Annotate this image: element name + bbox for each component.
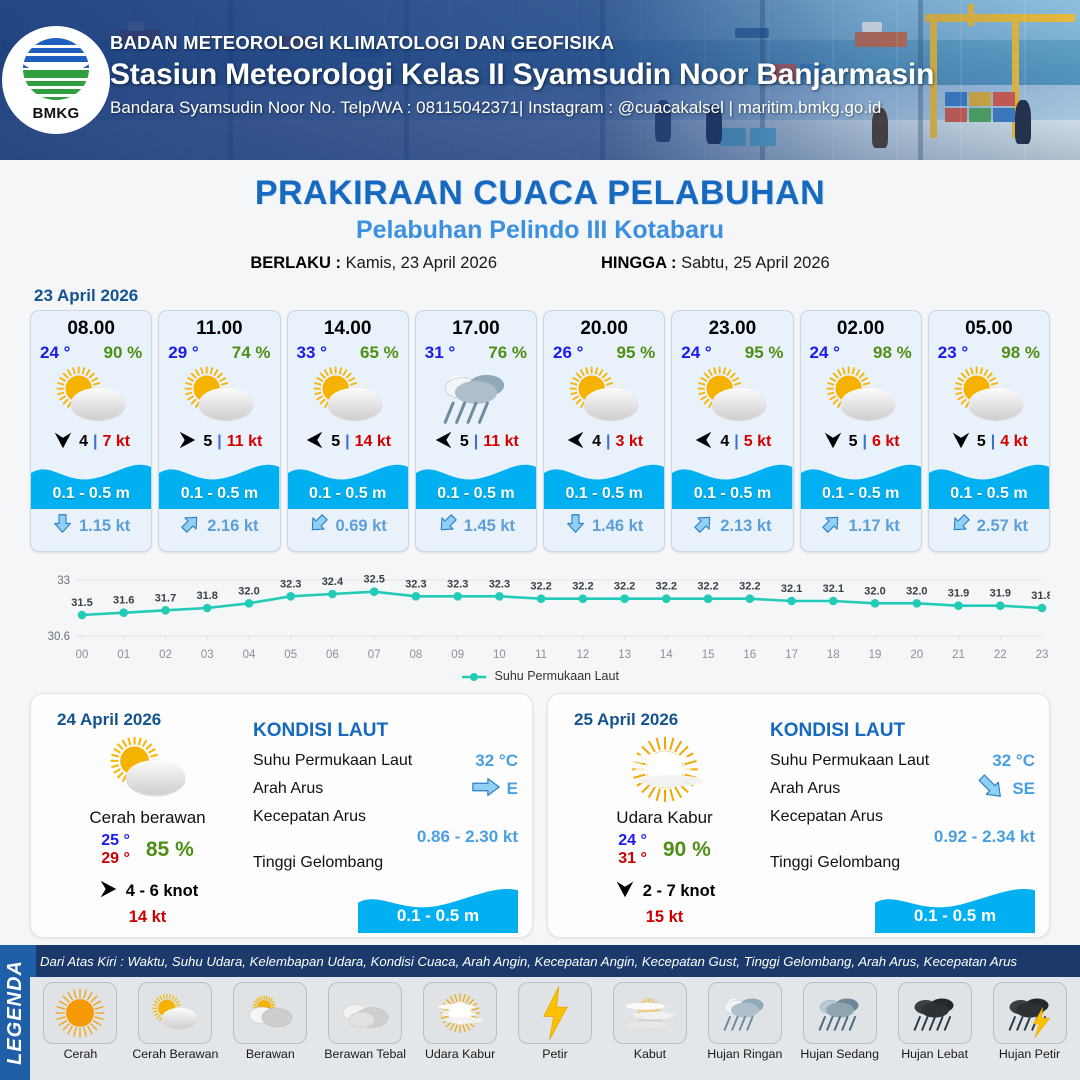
card-time: 23.00 bbox=[672, 311, 792, 340]
current-direction-label: Arah Arus bbox=[770, 780, 840, 798]
svg-text:32.2: 32.2 bbox=[530, 581, 551, 593]
svg-text:31.5: 31.5 bbox=[71, 597, 92, 609]
arrow-right-icon bbox=[471, 776, 501, 803]
svg-text:32.2: 32.2 bbox=[739, 581, 760, 593]
svg-text:32.3: 32.3 bbox=[489, 578, 510, 590]
wave-height-label: Tinggi Gelombang bbox=[253, 854, 383, 872]
card-wind-separator: | bbox=[606, 433, 610, 451]
current-direction-icon bbox=[308, 513, 329, 539]
hingga-value: Sabtu, 25 April 2026 bbox=[681, 254, 830, 272]
card-wind-speed: 4 bbox=[79, 433, 88, 451]
current-direction-icon bbox=[437, 513, 458, 539]
panel-gust: 15 kt bbox=[562, 908, 767, 927]
legend-item-label: Udara Kabur bbox=[414, 1047, 507, 1061]
card-current-speed: 1.17 kt bbox=[848, 517, 899, 536]
svg-text:00: 00 bbox=[76, 649, 89, 661]
svg-text:17: 17 bbox=[785, 649, 798, 661]
card-gust: 4 kt bbox=[1000, 433, 1028, 451]
card-current: 0.69 kt bbox=[288, 509, 408, 543]
panel-temp-max: 31 ° bbox=[618, 850, 647, 868]
card-wind: 4 | 3 kt bbox=[544, 427, 664, 457]
svg-text:09: 09 bbox=[451, 649, 464, 661]
legend-items: Cerah Cerah Berawan Berawan Berawan Teba… bbox=[30, 977, 1080, 1080]
current-direction-icon bbox=[821, 513, 842, 539]
current-speed-value: 0.86 - 2.30 kt bbox=[253, 827, 518, 847]
card-current-speed: 1.45 kt bbox=[464, 517, 515, 536]
legenda-title: LEGENDA bbox=[4, 960, 27, 1065]
card-humidity: 95 % bbox=[617, 343, 656, 363]
sst-value: 32 °C bbox=[992, 751, 1035, 771]
panel-wave-graphic: 0.1 - 0.5 m bbox=[770, 879, 1035, 933]
card-wave-height: 0.1 - 0.5 m bbox=[544, 485, 664, 503]
card-time: 17.00 bbox=[416, 311, 536, 340]
card-temperature: 24 ° bbox=[40, 343, 70, 363]
sst-chart-svg: 3330.631.50031.60131.70231.80332.00432.3… bbox=[30, 566, 1050, 664]
svg-text:11: 11 bbox=[535, 649, 547, 661]
legend-item-label: Hujan Lebat bbox=[888, 1047, 981, 1061]
svg-text:31.8: 31.8 bbox=[196, 590, 217, 602]
hourly-card: 05.00 23 ° 98 % 5 | 4 kt 0.1 - 0.5 m bbox=[928, 310, 1050, 552]
hujan-petir-icon bbox=[993, 982, 1067, 1044]
berlaku-label: BERLAKU : bbox=[250, 254, 341, 272]
svg-text:01: 01 bbox=[117, 649, 130, 661]
wind-direction-icon bbox=[822, 429, 844, 456]
wind-direction-icon bbox=[304, 429, 326, 456]
panel-temp-max: 29 ° bbox=[101, 850, 130, 868]
card-wave: 0.1 - 0.5 m bbox=[929, 457, 1049, 509]
kabut-icon bbox=[613, 982, 687, 1044]
cerah-berawan-icon bbox=[159, 365, 279, 427]
card-wind-separator: | bbox=[217, 433, 221, 451]
card-wave: 0.1 - 0.5 m bbox=[159, 457, 279, 509]
chart-legend-marker bbox=[461, 672, 487, 682]
station-name: Stasiun Meteorologi Kelas II Syamsudin N… bbox=[110, 58, 934, 92]
title-block: PRAKIRAAN CUACA PELABUHAN Pelabuhan Peli… bbox=[0, 174, 1080, 273]
cerah-icon bbox=[43, 982, 117, 1044]
panel-temp-min: 24 ° bbox=[618, 832, 647, 850]
hourly-card: 20.00 26 ° 95 % 4 | 3 kt 0.1 - 0.5 m bbox=[543, 310, 665, 552]
agency-name: BADAN METEOROLOGI KLIMATOLOGI DAN GEOFIS… bbox=[110, 32, 934, 54]
svg-text:31.8: 31.8 bbox=[1031, 590, 1050, 602]
card-current: 1.17 kt bbox=[801, 509, 921, 543]
bmkg-logo-text: BMKG bbox=[17, 105, 95, 122]
sst-label: Suhu Permukaan Laut bbox=[253, 752, 412, 770]
card-wind-speed: 5 bbox=[331, 433, 340, 451]
panel-gust: 14 kt bbox=[45, 908, 250, 927]
current-speed-value: 0.92 - 2.34 kt bbox=[770, 827, 1035, 847]
svg-text:20: 20 bbox=[910, 649, 923, 661]
svg-text:32.0: 32.0 bbox=[864, 585, 885, 597]
svg-text:32.4: 32.4 bbox=[322, 576, 344, 588]
panel-temp-min: 25 ° bbox=[101, 832, 130, 850]
panel-condition: Udara Kabur bbox=[562, 808, 767, 828]
card-wave-height: 0.1 - 0.5 m bbox=[416, 485, 536, 503]
panel-wind: 2 - 7 knot bbox=[562, 878, 767, 905]
legend-item: Petir bbox=[509, 982, 602, 1061]
cerah-berawan-icon bbox=[801, 365, 921, 427]
card-wind-separator: | bbox=[345, 433, 349, 451]
card-humidity: 65 % bbox=[360, 343, 399, 363]
svg-text:12: 12 bbox=[577, 649, 590, 661]
legend-item: Kabut bbox=[603, 982, 696, 1061]
station-contact: Bandara Syamsudin Noor No. Telp/WA : 081… bbox=[110, 98, 934, 118]
current-direction-value: E bbox=[507, 779, 518, 799]
panel-wave-height: 0.1 - 0.5 m bbox=[875, 906, 1035, 926]
card-time: 11.00 bbox=[159, 311, 279, 340]
legend-item: Hujan Lebat bbox=[888, 982, 981, 1061]
card-current: 2.57 kt bbox=[929, 509, 1049, 543]
card-wave: 0.1 - 0.5 m bbox=[544, 457, 664, 509]
wave-height-label: Tinggi Gelombang bbox=[770, 854, 900, 872]
cerah-berawan-icon bbox=[288, 365, 408, 427]
card-wave-height: 0.1 - 0.5 m bbox=[801, 485, 921, 503]
hourly-card: 02.00 24 ° 98 % 5 | 6 kt 0.1 - 0.5 m bbox=[800, 310, 922, 552]
svg-text:03: 03 bbox=[201, 649, 214, 661]
card-current-speed: 2.16 kt bbox=[207, 517, 258, 536]
svg-text:04: 04 bbox=[243, 649, 256, 661]
udara-kabur-icon bbox=[423, 982, 497, 1044]
bmkg-logo: BMKG bbox=[2, 26, 110, 134]
current-direction-icon bbox=[950, 513, 971, 539]
card-wind-speed: 5 bbox=[977, 433, 986, 451]
svg-text:32.3: 32.3 bbox=[280, 578, 301, 590]
legend-item-label: Hujan Petir bbox=[983, 1047, 1076, 1061]
svg-text:08: 08 bbox=[410, 649, 423, 661]
card-gust: 11 kt bbox=[483, 433, 519, 451]
daily-forecast-panels: 24 April 2026 Cerah berawan 25 ° 29 ° 85… bbox=[0, 683, 1080, 938]
current-direction-icon bbox=[180, 513, 201, 539]
validity-from: BERLAKU : Kamis, 23 April 2026 bbox=[250, 254, 497, 273]
panel-wave-graphic: 0.1 - 0.5 m bbox=[253, 879, 518, 933]
card-gust: 14 kt bbox=[355, 433, 391, 451]
legend-item: Berawan bbox=[224, 982, 317, 1061]
card-wind-speed: 5 bbox=[849, 433, 858, 451]
wind-direction-icon bbox=[433, 429, 455, 456]
svg-text:21: 21 bbox=[952, 649, 965, 661]
legend-item: Hujan Sedang bbox=[793, 982, 886, 1061]
card-time: 02.00 bbox=[801, 311, 921, 340]
panel-wind: 4 - 6 knot bbox=[45, 878, 250, 905]
udara-kabur-icon bbox=[562, 738, 767, 800]
wind-direction-icon bbox=[176, 429, 198, 456]
card-temperature: 33 ° bbox=[297, 343, 327, 363]
arrow-down-right-icon bbox=[976, 776, 1006, 803]
legend-item: Cerah Berawan bbox=[129, 982, 222, 1061]
card-current: 2.16 kt bbox=[159, 509, 279, 543]
card-wind-speed: 4 bbox=[592, 433, 601, 451]
svg-text:18: 18 bbox=[827, 649, 840, 661]
svg-text:22: 22 bbox=[994, 649, 1007, 661]
panel-wind-range: 2 - 7 knot bbox=[643, 882, 715, 901]
card-humidity: 98 % bbox=[1001, 343, 1040, 363]
svg-text:33: 33 bbox=[57, 575, 70, 587]
svg-text:31.6: 31.6 bbox=[113, 595, 134, 607]
card-time: 05.00 bbox=[929, 311, 1049, 340]
legend-item-label: Hujan Sedang bbox=[793, 1047, 886, 1061]
current-speed-label: Kecepatan Arus bbox=[253, 808, 366, 826]
hourly-card: 11.00 29 ° 74 % 5 | 11 kt 0.1 - 0.5 m bbox=[158, 310, 280, 552]
page-title: PRAKIRAAN CUACA PELABUHAN bbox=[0, 174, 1080, 213]
card-gust: 11 kt bbox=[227, 433, 263, 451]
page-header: BMKG BADAN METEOROLOGI KLIMATOLOGI DAN G… bbox=[0, 0, 1080, 160]
sst-label: Suhu Permukaan Laut bbox=[770, 752, 929, 770]
card-temperature: 23 ° bbox=[938, 343, 968, 363]
legend-item-label: Petir bbox=[509, 1047, 602, 1061]
svg-text:31.7: 31.7 bbox=[155, 592, 176, 604]
card-wind: 5 | 6 kt bbox=[801, 427, 921, 457]
card-wind: 5 | 11 kt bbox=[159, 427, 279, 457]
svg-text:32.3: 32.3 bbox=[405, 578, 426, 590]
hingga-label: HINGGA : bbox=[601, 254, 676, 272]
current-direction-label: Arah Arus bbox=[253, 780, 323, 798]
card-humidity: 95 % bbox=[745, 343, 784, 363]
card-current-speed: 0.69 kt bbox=[335, 517, 386, 536]
panel-wave-height: 0.1 - 0.5 m bbox=[358, 906, 518, 926]
legend-item: Cerah bbox=[34, 982, 127, 1061]
card-current-speed: 2.57 kt bbox=[977, 517, 1028, 536]
card-time: 08.00 bbox=[31, 311, 151, 340]
svg-text:32.2: 32.2 bbox=[614, 581, 635, 593]
cerah-berawan-icon bbox=[45, 738, 250, 800]
card-current: 1.45 kt bbox=[416, 509, 536, 543]
svg-text:32.2: 32.2 bbox=[697, 581, 718, 593]
card-temperature: 26 ° bbox=[553, 343, 583, 363]
hourly-forecast-cards: 08.00 24 ° 90 % 4 | 7 kt 0.1 - 0.5 m bbox=[0, 310, 1080, 552]
hourly-date-label: 23 April 2026 bbox=[34, 286, 1080, 306]
svg-text:06: 06 bbox=[326, 649, 339, 661]
wind-direction-icon bbox=[614, 878, 636, 905]
card-wave: 0.1 - 0.5 m bbox=[288, 457, 408, 509]
validity-row: BERLAKU : Kamis, 23 April 2026 HINGGA : … bbox=[0, 254, 1080, 273]
legend-item-label: Berawan bbox=[224, 1047, 317, 1061]
hujan-ringan-icon bbox=[708, 982, 782, 1044]
card-wind-speed: 5 bbox=[203, 433, 212, 451]
svg-text:10: 10 bbox=[493, 649, 506, 661]
card-wind-speed: 4 bbox=[720, 433, 729, 451]
svg-text:15: 15 bbox=[702, 649, 715, 661]
wind-direction-icon bbox=[565, 429, 587, 456]
panel-wind-range: 4 - 6 knot bbox=[126, 882, 198, 901]
berawan-tebal-icon bbox=[328, 982, 402, 1044]
card-current: 1.15 kt bbox=[31, 509, 151, 543]
legend-note-text: Dari Atas Kiri : Waktu, Suhu Udara, Kele… bbox=[36, 954, 1017, 969]
svg-text:13: 13 bbox=[618, 649, 631, 661]
current-direction-value: SE bbox=[1012, 779, 1035, 799]
svg-text:16: 16 bbox=[743, 649, 756, 661]
card-time: 14.00 bbox=[288, 311, 408, 340]
card-temperature: 29 ° bbox=[168, 343, 198, 363]
card-time: 20.00 bbox=[544, 311, 664, 340]
current-direction-icon bbox=[565, 513, 586, 539]
card-wave-height: 0.1 - 0.5 m bbox=[159, 485, 279, 503]
svg-text:32.1: 32.1 bbox=[823, 583, 844, 595]
current-speed-label: Kecepatan Arus bbox=[770, 808, 883, 826]
legend-item-label: Kabut bbox=[603, 1047, 696, 1061]
card-current-speed: 1.46 kt bbox=[592, 517, 643, 536]
card-humidity: 98 % bbox=[873, 343, 912, 363]
svg-text:19: 19 bbox=[869, 649, 882, 661]
cerah-berawan-icon bbox=[544, 365, 664, 427]
hujan-lebat-icon bbox=[898, 982, 972, 1044]
card-wind: 4 | 7 kt bbox=[31, 427, 151, 457]
petir-icon bbox=[518, 982, 592, 1044]
hourly-card: 14.00 33 ° 65 % 5 | 14 kt 0.1 - 0.5 m bbox=[287, 310, 409, 552]
legend-item: Berawan Tebal bbox=[319, 982, 412, 1061]
card-gust: 6 kt bbox=[872, 433, 900, 451]
legend-item-label: Cerah Berawan bbox=[129, 1047, 222, 1061]
cerah-berawan-icon bbox=[929, 365, 1049, 427]
card-wind-separator: | bbox=[734, 433, 738, 451]
card-humidity: 90 % bbox=[104, 343, 143, 363]
svg-text:32.0: 32.0 bbox=[238, 585, 259, 597]
card-wave: 0.1 - 0.5 m bbox=[31, 457, 151, 509]
card-wind-separator: | bbox=[474, 433, 478, 451]
card-current-speed: 2.13 kt bbox=[720, 517, 771, 536]
panel-sea-title: KONDISI LAUT bbox=[770, 720, 1035, 742]
wind-direction-icon bbox=[97, 878, 119, 905]
card-gust: 3 kt bbox=[616, 433, 644, 451]
berlaku-value: Kamis, 23 April 2026 bbox=[346, 254, 497, 272]
card-gust: 7 kt bbox=[103, 433, 131, 451]
card-wind: 5 | 14 kt bbox=[288, 427, 408, 457]
svg-text:14: 14 bbox=[660, 649, 673, 661]
card-gust: 5 kt bbox=[744, 433, 772, 451]
card-wind: 4 | 5 kt bbox=[672, 427, 792, 457]
legend-item-label: Hujan Ringan bbox=[698, 1047, 791, 1061]
panel-date: 25 April 2026 bbox=[574, 710, 678, 730]
card-wind-speed: 5 bbox=[460, 433, 469, 451]
svg-text:32.2: 32.2 bbox=[656, 581, 677, 593]
card-wave-height: 0.1 - 0.5 m bbox=[929, 485, 1049, 503]
cerah-berawan-icon bbox=[31, 365, 151, 427]
daily-forecast-panel: 24 April 2026 Cerah berawan 25 ° 29 ° 85… bbox=[30, 693, 533, 938]
hourly-card: 08.00 24 ° 90 % 4 | 7 kt 0.1 - 0.5 m bbox=[30, 310, 152, 552]
card-wind-separator: | bbox=[991, 433, 995, 451]
hujan-ringan-icon bbox=[416, 365, 536, 427]
hourly-card: 17.00 31 ° 76 % 5 | 11 kt 0.1 - 0.5 m 1.… bbox=[415, 310, 537, 552]
card-wave-height: 0.1 - 0.5 m bbox=[672, 485, 792, 503]
legend-item-label: Cerah bbox=[34, 1047, 127, 1061]
legend-item-label: Berawan Tebal bbox=[319, 1047, 412, 1061]
card-wave: 0.1 - 0.5 m bbox=[416, 457, 536, 509]
cerah-berawan-icon bbox=[138, 982, 212, 1044]
svg-text:30.6: 30.6 bbox=[48, 631, 70, 643]
panel-date: 24 April 2026 bbox=[57, 710, 161, 730]
legend-footer: LEGENDA Dari Atas Kiri : Waktu, Suhu Uda… bbox=[0, 945, 1080, 1080]
wind-direction-icon bbox=[52, 429, 74, 456]
card-wave: 0.1 - 0.5 m bbox=[801, 457, 921, 509]
wind-direction-icon bbox=[693, 429, 715, 456]
svg-text:32.0: 32.0 bbox=[906, 585, 927, 597]
chart-legend: Suhu Permukaan Laut bbox=[0, 669, 1080, 683]
card-wave-height: 0.1 - 0.5 m bbox=[288, 485, 408, 503]
panel-condition: Cerah berawan bbox=[45, 808, 250, 828]
svg-text:02: 02 bbox=[159, 649, 172, 661]
legend-item: Hujan Ringan bbox=[698, 982, 791, 1061]
legend-item: Udara Kabur bbox=[414, 982, 507, 1061]
validity-to: HINGGA : Sabtu, 25 April 2026 bbox=[601, 254, 830, 273]
page-subtitle: Pelabuhan Pelindo III Kotabaru bbox=[0, 216, 1080, 245]
svg-text:05: 05 bbox=[284, 649, 297, 661]
card-current-speed: 1.15 kt bbox=[79, 517, 130, 536]
panel-humidity: 90 % bbox=[663, 838, 711, 862]
legend-item: Hujan Petir bbox=[983, 982, 1076, 1061]
panel-humidity: 85 % bbox=[146, 838, 194, 862]
card-current: 2.13 kt bbox=[672, 509, 792, 543]
current-direction-icon bbox=[52, 513, 73, 539]
card-humidity: 74 % bbox=[232, 343, 271, 363]
card-wind: 5 | 4 kt bbox=[929, 427, 1049, 457]
sst-value: 32 °C bbox=[475, 751, 518, 771]
card-wind-separator: | bbox=[93, 433, 97, 451]
daily-forecast-panel: 25 April 2026 Udara Kabur 24 ° 31 ° 90 %… bbox=[547, 693, 1050, 938]
legenda-band: LEGENDA bbox=[0, 945, 30, 1080]
svg-text:32.3: 32.3 bbox=[447, 578, 468, 590]
card-temperature: 24 ° bbox=[810, 343, 840, 363]
hourly-card: 23.00 24 ° 95 % 4 | 5 kt 0.1 - 0.5 m bbox=[671, 310, 793, 552]
svg-text:32.2: 32.2 bbox=[572, 581, 593, 593]
svg-text:31.9: 31.9 bbox=[990, 588, 1011, 600]
svg-text:32.1: 32.1 bbox=[781, 583, 802, 595]
sst-chart: 3330.631.50031.60131.70231.80332.00432.3… bbox=[30, 566, 1050, 666]
wind-direction-icon bbox=[950, 429, 972, 456]
svg-text:23: 23 bbox=[1036, 649, 1049, 661]
card-wind-separator: | bbox=[863, 433, 867, 451]
chart-legend-label: Suhu Permukaan Laut bbox=[495, 669, 619, 683]
svg-text:31.9: 31.9 bbox=[948, 588, 969, 600]
svg-text:32.5: 32.5 bbox=[363, 574, 384, 586]
legend-note: Dari Atas Kiri : Waktu, Suhu Udara, Kele… bbox=[36, 945, 1080, 977]
card-wave-height: 0.1 - 0.5 m bbox=[31, 485, 151, 503]
card-temperature: 24 ° bbox=[681, 343, 711, 363]
card-current: 1.46 kt bbox=[544, 509, 664, 543]
panel-sea-title: KONDISI LAUT bbox=[253, 720, 518, 742]
card-wave: 0.1 - 0.5 m bbox=[672, 457, 792, 509]
hujan-sedang-icon bbox=[803, 982, 877, 1044]
cerah-berawan-icon bbox=[672, 365, 792, 427]
svg-text:07: 07 bbox=[368, 649, 381, 661]
current-direction-icon bbox=[693, 513, 714, 539]
berawan-icon bbox=[233, 982, 307, 1044]
